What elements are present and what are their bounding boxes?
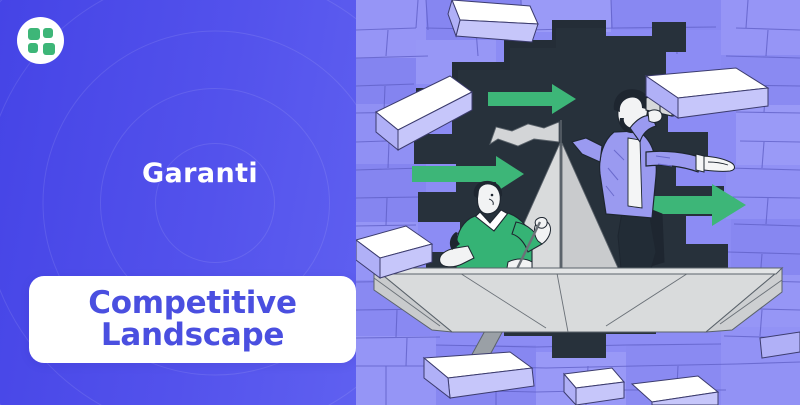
paper-boat: [374, 268, 782, 332]
brand-name: Garanti: [0, 158, 400, 189]
app-logo[interactable]: [17, 17, 64, 64]
logo-tile-top-right: [43, 28, 53, 38]
logo-tile-top-left: [28, 28, 40, 40]
flying-brick-top-center: [448, 0, 538, 42]
headline-title: Competitive Landscape: [88, 288, 296, 352]
logo-tile-bottom-right: [43, 43, 55, 55]
logo-tile-bottom-left: [28, 43, 38, 53]
competitive-landscape-banner: Garanti Competitive Landscape: [0, 0, 800, 405]
illustration-paper-boat-breaking-wall: [356, 0, 800, 405]
flying-brick-bottom-center: [564, 368, 624, 405]
headline-card: Competitive Landscape: [29, 276, 356, 363]
grid-squares-icon: [28, 28, 54, 54]
